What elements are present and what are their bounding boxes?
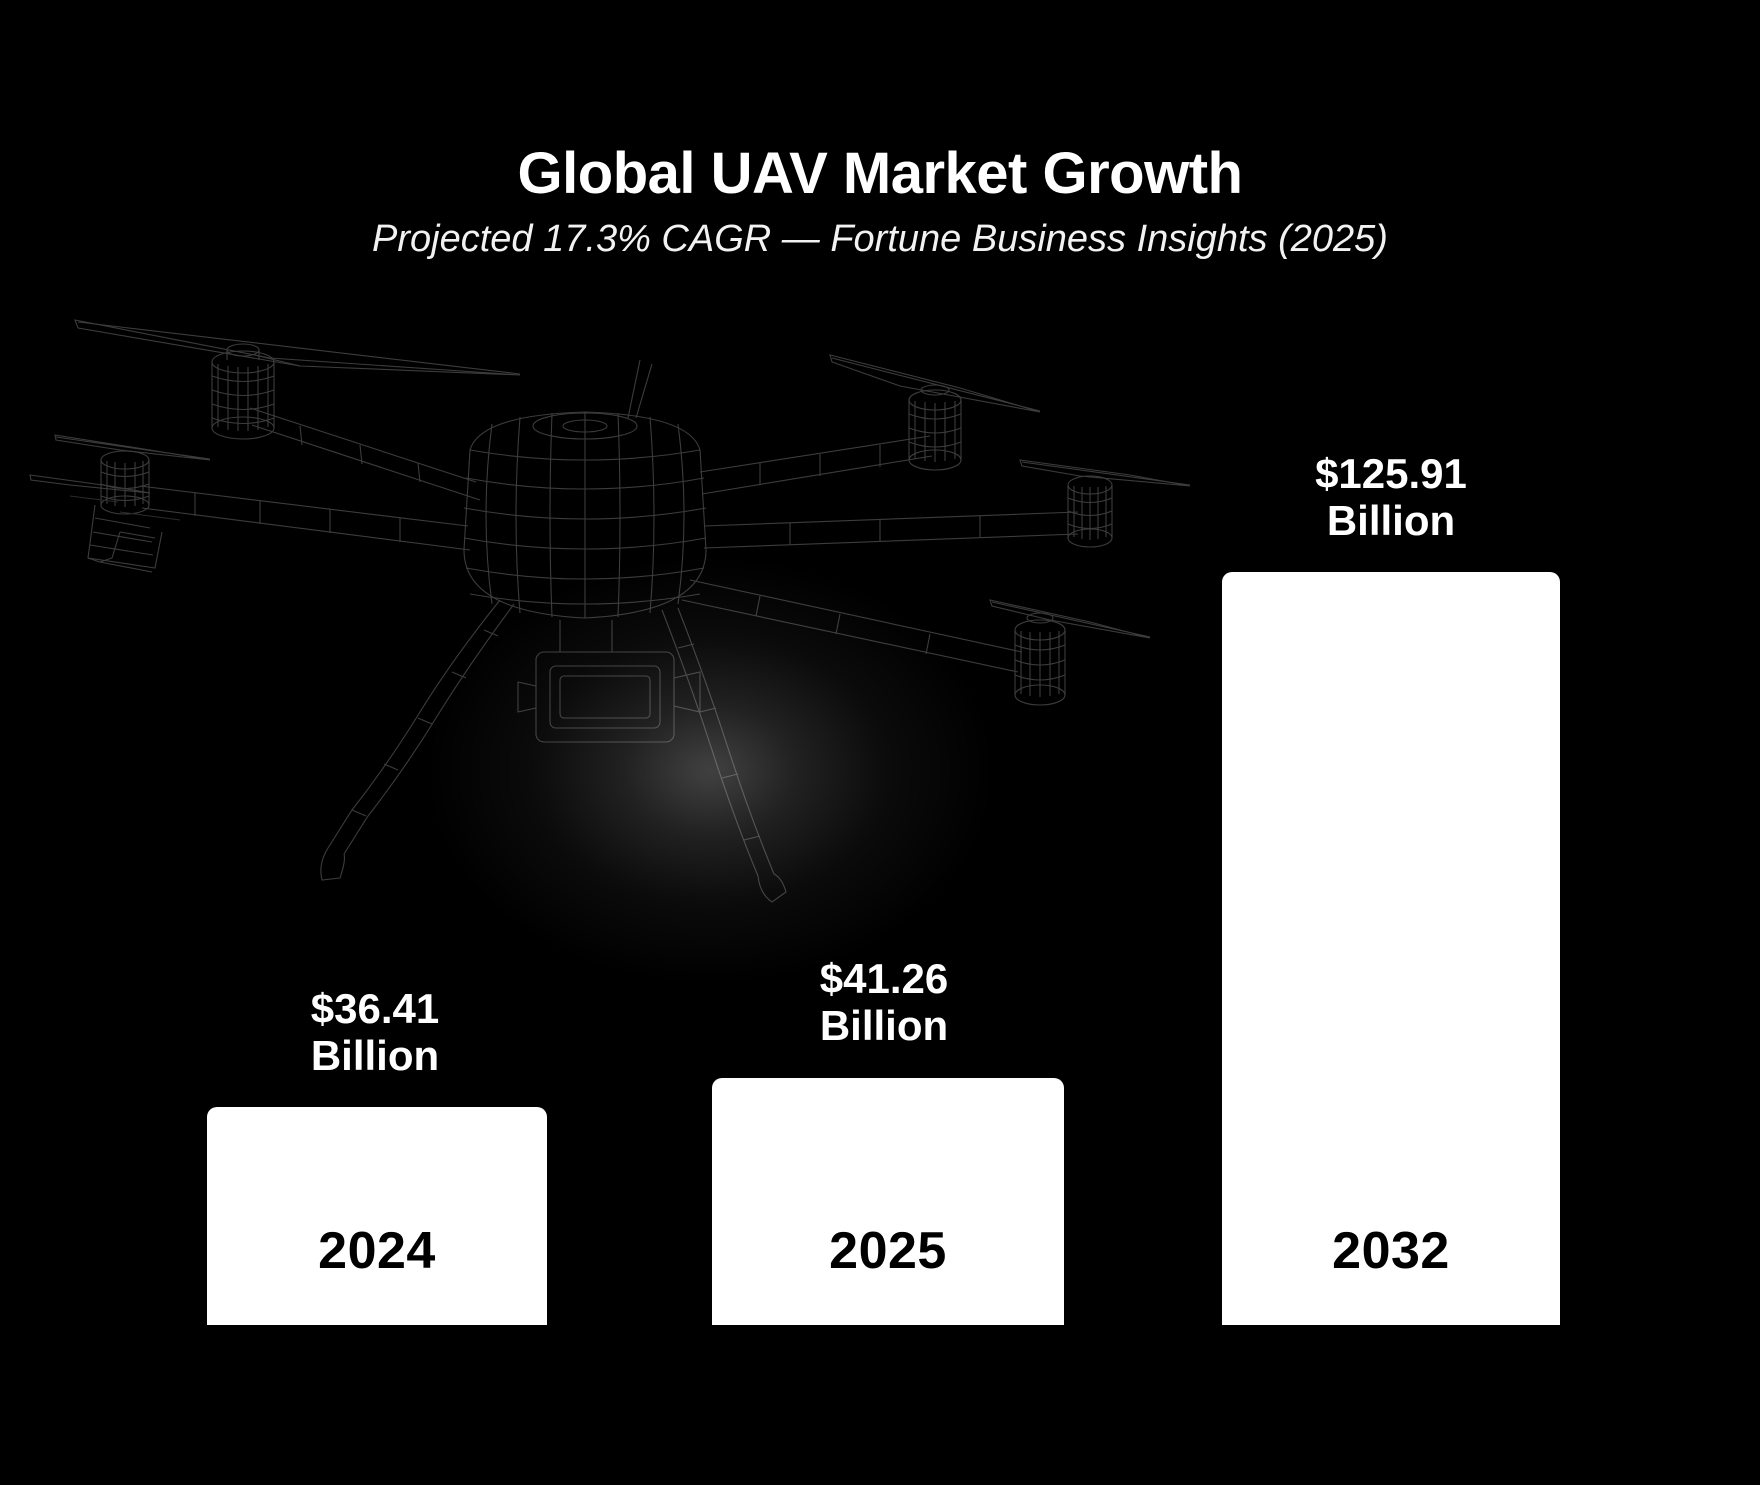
drone-light-glow	[430, 560, 990, 980]
page-title: Global UAV Market Growth	[0, 140, 1760, 207]
page-subtitle: Projected 17.3% CAGR — Fortune Business …	[0, 218, 1760, 261]
bar-value-label-2025: $41.26 Billion	[708, 955, 1060, 1049]
chart-canvas: Global UAV Market Growth Projected 17.3%…	[0, 0, 1760, 1485]
bar-year-label-2024: 2024	[207, 1221, 547, 1281]
bar-2032[interactable]: 2032	[1222, 572, 1560, 1325]
bar-year-label-2025: 2025	[712, 1221, 1064, 1281]
bar-2025[interactable]: 2025	[712, 1078, 1064, 1325]
bar-year-label-2032: 2032	[1222, 1221, 1560, 1281]
bar-value-label-2032: $125.91 Billion	[1222, 450, 1560, 544]
uav-quadcopter-wireframe-icon	[0, 300, 1300, 960]
bar-value-label-2024: $36.41 Billion	[205, 985, 545, 1079]
bar-2024[interactable]: 2024	[207, 1107, 547, 1325]
